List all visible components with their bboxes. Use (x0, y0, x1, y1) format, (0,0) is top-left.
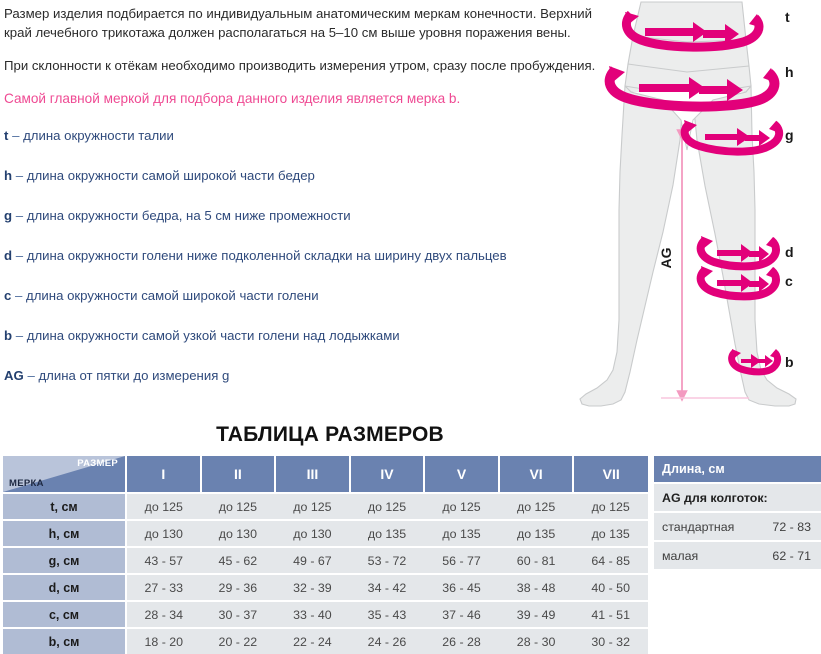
table-row: c, см 28 - 34 30 - 37 33 - 40 35 - 43 37… (3, 601, 648, 628)
definition-text: длина окружности талии (23, 128, 174, 143)
table-cell: до 125 (350, 493, 425, 520)
definition-item: c – длина окружности самой широкой части… (4, 286, 600, 305)
definition-dash: – (16, 328, 23, 343)
table-cell: 45 - 62 (201, 547, 276, 574)
leg-silhouette-diagram: AG (553, 0, 821, 412)
ag-vertical-label: AG (658, 247, 674, 268)
table-row: g, см 43 - 57 45 - 62 49 - 67 53 - 72 56… (3, 547, 648, 574)
table-cell: 39 - 49 (499, 601, 574, 628)
illustration-label-d: d (785, 244, 794, 260)
column-header-6: VI (499, 456, 574, 493)
table-cell: 53 - 72 (350, 547, 425, 574)
header-merka-label: МЕРКА (9, 478, 44, 489)
row-label: t, см (3, 493, 126, 520)
definition-dash: – (12, 128, 19, 143)
length-chart-table: Длина, см AG для колготок: стандартная 7… (654, 456, 821, 569)
table-cell: 30 - 32 (573, 628, 648, 654)
table-cell: до 125 (424, 493, 499, 520)
table-row: b, см 18 - 20 20 - 22 22 - 24 24 - 26 26… (3, 628, 648, 654)
illustration-label-c: c (785, 273, 793, 289)
table-cell: 64 - 85 (573, 547, 648, 574)
definition-item: b – длина окружности самой узкой части г… (4, 326, 600, 345)
table-cell: 34 - 42 (350, 574, 425, 601)
row-label: d, см (3, 574, 126, 601)
definition-key: c (4, 288, 11, 303)
table-cell: до 125 (126, 493, 201, 520)
length-row: малая 62 - 71 (654, 541, 821, 569)
definition-item: t – длина окружности талии (4, 126, 600, 145)
definition-text: длина окружности голени ниже подколенной… (27, 248, 507, 263)
column-header-2: II (201, 456, 276, 493)
definition-key: g (4, 208, 12, 223)
illustration-label-h: h (785, 64, 794, 80)
length-row-name: малая (654, 541, 758, 569)
table-cell: 22 - 24 (275, 628, 350, 654)
definition-dash: – (15, 288, 22, 303)
length-subheader-row: AG для колготок: (654, 483, 821, 512)
table-cell: до 130 (275, 520, 350, 547)
body-shape (580, 2, 796, 406)
column-header-3: III (275, 456, 350, 493)
table-row: d, см 27 - 33 29 - 36 32 - 39 34 - 42 36… (3, 574, 648, 601)
column-header-5: V (424, 456, 499, 493)
instructions-text-column: Размер изделия подбирается по индивидуал… (4, 4, 600, 406)
page-title: ТАБЛИЦА РАЗМЕРОВ (0, 423, 660, 447)
table-cell: до 135 (573, 520, 648, 547)
length-header-row: Длина, см (654, 456, 821, 483)
illustration-label-t: t (785, 9, 790, 25)
definition-text: длина окружности самой широкой части гол… (26, 288, 319, 303)
row-label: g, см (3, 547, 126, 574)
table-cell: 27 - 33 (126, 574, 201, 601)
definition-key: AG (4, 368, 24, 383)
row-label: h, см (3, 520, 126, 547)
length-row-value: 62 - 71 (758, 541, 821, 569)
size-chart-table: РАЗМЕР МЕРКА I II III IV V VI VII t, см … (3, 456, 648, 654)
table-row: h, см до 130 до 130 до 130 до 135 до 135… (3, 520, 648, 547)
table-row: t, см до 125 до 125 до 125 до 125 до 125… (3, 493, 648, 520)
definition-dash: – (27, 368, 34, 383)
table-cell: 18 - 20 (126, 628, 201, 654)
length-header: Длина, см (654, 456, 821, 483)
highlight-note: Самой главной меркой для подбора данного… (4, 89, 600, 108)
table-cell: 35 - 43 (350, 601, 425, 628)
table-cell: 28 - 30 (499, 628, 574, 654)
table-cell: до 130 (201, 520, 276, 547)
header-corner-cell: РАЗМЕР МЕРКА (3, 456, 126, 493)
definition-key: h (4, 168, 12, 183)
definition-key: d (4, 248, 12, 263)
table-cell: 37 - 46 (424, 601, 499, 628)
illustration-label-b: b (785, 354, 794, 370)
table-header-row: РАЗМЕР МЕРКА I II III IV V VI VII (3, 456, 648, 493)
definition-text: длина от пятки до измерения g (38, 368, 229, 383)
definition-dash: – (16, 208, 23, 223)
table-cell: 41 - 51 (573, 601, 648, 628)
table-cell: до 125 (573, 493, 648, 520)
table-cell: 32 - 39 (275, 574, 350, 601)
column-header-4: IV (350, 456, 425, 493)
table-cell: 49 - 67 (275, 547, 350, 574)
definition-text: длина окружности бедра, на 5 см ниже про… (27, 208, 351, 223)
length-subheader: AG для колготок: (654, 483, 821, 512)
definition-text: длина окружности самой узкой части голен… (27, 328, 400, 343)
length-row-name: стандартная (654, 512, 758, 541)
table-cell: до 130 (126, 520, 201, 547)
definition-key: b (4, 328, 12, 343)
table-cell: 40 - 50 (573, 574, 648, 601)
table-cell: 20 - 22 (201, 628, 276, 654)
table-cell: до 125 (275, 493, 350, 520)
definition-text: длина окружности самой широкой части бед… (27, 168, 315, 183)
table-cell: 33 - 40 (275, 601, 350, 628)
illustration-label-g: g (785, 127, 794, 143)
definition-dash: – (16, 248, 23, 263)
definition-item: AG – длина от пятки до измерения g (4, 366, 600, 385)
table-cell: 24 - 26 (350, 628, 425, 654)
body-measurement-illustration: AG t h g d c b (553, 0, 821, 412)
intro-paragraph-1: Размер изделия подбирается по индивидуал… (4, 4, 600, 42)
measurement-definitions-list: t – длина окружности талии h – длина окр… (4, 126, 600, 385)
length-row: стандартная 72 - 83 (654, 512, 821, 541)
intro-paragraph-2: При склонности к отёкам необходимо произ… (4, 56, 600, 75)
definition-key: t (4, 128, 8, 143)
row-label: b, см (3, 628, 126, 654)
table-cell: до 135 (424, 520, 499, 547)
table-cell: 29 - 36 (201, 574, 276, 601)
definition-item: d – длина окружности голени ниже подколе… (4, 246, 600, 265)
table-cell: до 125 (201, 493, 276, 520)
table-cell: 56 - 77 (424, 547, 499, 574)
column-header-1: I (126, 456, 201, 493)
length-row-value: 72 - 83 (758, 512, 821, 541)
definition-dash: – (16, 168, 23, 183)
table-cell: 26 - 28 (424, 628, 499, 654)
table-cell: до 135 (499, 520, 574, 547)
table-cell: 36 - 45 (424, 574, 499, 601)
table-cell: 28 - 34 (126, 601, 201, 628)
table-cell: 38 - 48 (499, 574, 574, 601)
table-cell: 60 - 81 (499, 547, 574, 574)
table-cell: 43 - 57 (126, 547, 201, 574)
header-size-label: РАЗМЕР (77, 458, 118, 469)
table-cell: до 125 (499, 493, 574, 520)
table-cell: 30 - 37 (201, 601, 276, 628)
definition-item: h – длина окружности самой широкой части… (4, 166, 600, 185)
row-label: c, см (3, 601, 126, 628)
definition-item: g – длина окружности бедра, на 5 см ниже… (4, 206, 600, 225)
table-cell: до 135 (350, 520, 425, 547)
column-header-7: VII (573, 456, 648, 493)
